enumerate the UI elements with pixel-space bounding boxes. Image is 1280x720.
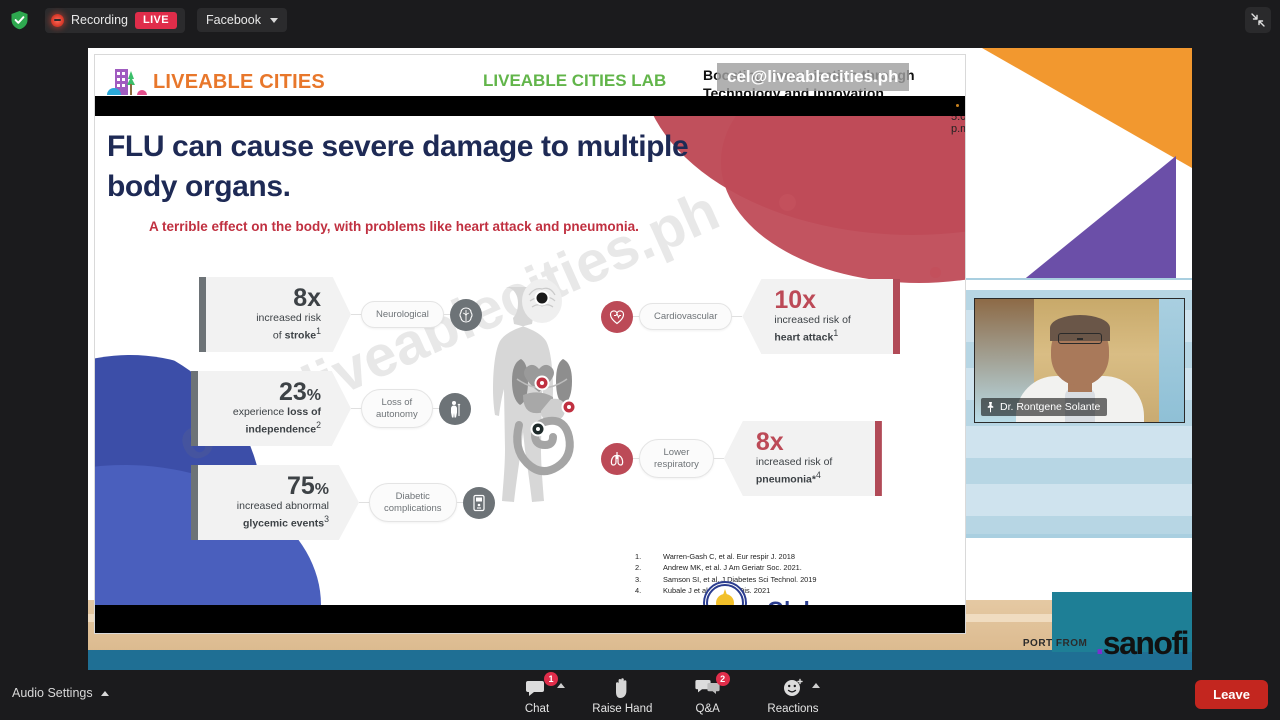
fact-number: 23% [212,379,321,405]
chevron-up-icon[interactable] [101,691,109,696]
chevron-down-icon [270,18,278,23]
liveable-cities-logo: LIVEABLE CITIES [107,65,325,99]
bottom-toolbar: Audio Settings 1 Chat [0,670,1280,720]
reference-row: 1. Warren-Gash C, et al. Eur respir J. 2… [635,551,817,562]
fact-box: 23% experience loss of independence2 [191,371,351,446]
glucose-meter-icon [463,487,495,519]
fact-description: increased risk of heart attack1 [774,314,879,345]
top-bar: Recording LIVE Facebook [0,0,1280,40]
raise-hand-control[interactable]: Raise Hand [585,674,659,715]
reference-number: 3. [635,574,663,585]
sponsor-strip: PORT FROM .sanofi [1023,625,1188,662]
fact-pill: Diabetic complications [369,483,457,523]
reference-number: 4. [635,585,663,596]
raise-hand-label: Raise Hand [592,703,652,715]
fact-card-autonomy: 23% experience loss of independence2 Los… [191,371,471,446]
raised-hand-icon [612,677,632,699]
sponsor-prefix: PORT FROM [1023,638,1088,649]
chat-control[interactable]: 1 Chat [500,674,574,715]
fact-card-heart-attack: Cardiovascular 10x increased risk of hea… [601,279,900,354]
recording-indicator[interactable]: Recording LIVE [45,8,185,33]
liveable-cities-lab-wordmark: LIVEABLE CITIES LAB [483,71,666,91]
fact-pill: Neurological [361,301,444,329]
shield-check-icon[interactable] [10,10,29,30]
fact-number: 10x [774,287,879,313]
shared-screen-stage: LIVEABLE CITIES LIVEABLE CITIES LAB Boos… [88,48,1192,670]
participant-video-tile[interactable]: Dr. Rontgene Solante [974,298,1185,423]
zoom-webinar-window: Recording LIVE Facebook [0,0,1280,720]
reference-number: 2. [635,562,663,573]
presentation-slide: LIVEABLE CITIES LIVEABLE CITIES LAB Boos… [94,54,966,634]
fact-number: 8x [756,429,861,455]
red-dot-large [779,194,796,211]
slide-title: FLU can cause severe damage to multiple … [107,127,707,206]
stream-platform-label: Facebook [206,13,261,27]
stream-platform-dropdown[interactable]: Facebook [197,8,287,32]
participant-name: Dr. Rontgene Solante [1000,401,1100,413]
leave-button[interactable]: Leave [1195,680,1268,709]
city-skyline-icon [107,65,147,99]
red-dot-small [930,267,941,278]
exit-fullscreen-button[interactable] [1245,7,1271,33]
participant-name-tag: Dr. Rontgene Solante [981,398,1107,416]
brain-icon [450,299,482,331]
recording-label: Recording [71,13,128,27]
meeting-controls: 1 Chat Raise Hand [500,674,830,720]
screenshare-black-bar-top [95,96,966,116]
reference-row: 2. Andrew MK, et al. J Am Geriatr Soc. 2… [635,562,817,573]
fact-box: 8x increased risk of stroke1 [199,277,351,352]
exit-fullscreen-icon [1251,13,1265,27]
audio-settings-button[interactable]: Audio Settings [12,686,109,700]
fact-box: 8x increased risk of pneumonia*4 [724,421,882,496]
heart-icon [601,301,633,333]
chevron-up-icon[interactable] [812,683,820,688]
fact-box: 75% increased abnormal glycemic events3 [191,465,359,540]
chevron-up-icon[interactable] [557,683,565,688]
reference-number: 1. [635,551,663,562]
email-overlay-tooltip: cel@liveablecities.ph [717,63,909,91]
smiley-plus-icon [782,677,804,699]
slide-subtitle: A terrible effect on the body, with prob… [149,219,639,234]
human-body-organs-diagram [477,273,607,541]
elderly-person-icon [439,393,471,425]
chat-badge: 1 [544,672,558,686]
fact-number: 8x [220,285,321,311]
fact-description: increased abnormal glycemic events3 [212,500,329,531]
fact-number: 75% [212,473,329,499]
reference-text: Andrew MK, et al. J Am Geriatr Soc. 2021… [663,562,817,573]
audio-settings-label: Audio Settings [12,686,93,700]
qa-bubbles-icon: 2 [695,677,721,699]
fact-pill: Loss of autonomy [361,389,433,429]
fact-pill: Cardiovascular [639,303,732,331]
fact-card-glycemic: 75% increased abnormal glycemic events3 … [191,465,495,540]
fact-description: experience loss of independence2 [212,406,321,437]
fact-card-pneumonia: Lower respiratory 8x increased risk of p… [601,421,882,496]
fact-description: increased risk of stroke1 [220,312,321,343]
fact-pill: Lower respiratory [639,439,714,479]
chat-bubble-icon: 1 [525,677,549,699]
reference-text: Warren-Gash C, et al. Eur respir J. 2018 [663,551,817,562]
reactions-control[interactable]: Reactions [756,674,830,715]
fact-description: increased risk of pneumonia*4 [756,456,861,487]
blue-dot-large [135,369,152,386]
qa-badge: 2 [716,672,730,686]
chat-label: Chat [525,703,549,715]
fact-box: 10x increased risk of heart attack1 [742,279,900,354]
screenshare-black-bar-bottom [95,605,966,633]
reactions-label: Reactions [767,703,818,715]
sanofi-logo: .sanofi [1095,625,1188,662]
live-badge: LIVE [135,12,177,29]
qa-control[interactable]: 2 Q&A [671,674,745,715]
lungs-icon [601,443,633,475]
recording-dot-icon [51,14,64,27]
liveable-cities-wordmark: LIVEABLE CITIES [153,71,325,94]
pin-icon [986,402,995,413]
fact-card-stroke: 8x increased risk of stroke1 Neurologica… [199,277,482,352]
qa-label: Q&A [696,703,720,715]
